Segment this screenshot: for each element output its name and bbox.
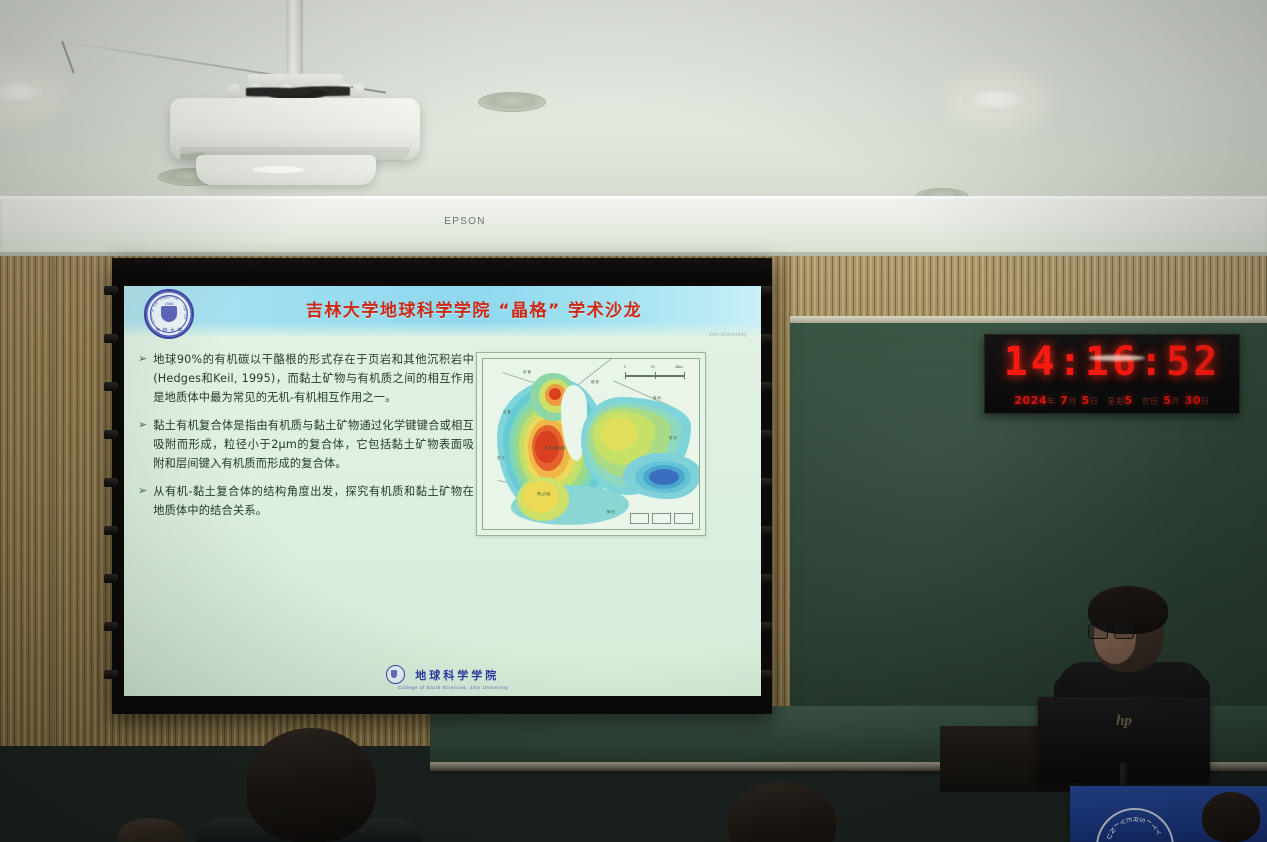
footer-college-cn: 地球科学学院 xyxy=(415,667,499,683)
clock-weekday-label: 星期 xyxy=(1107,397,1124,406)
map-scale-40: 40km xyxy=(675,365,683,369)
clock-lunar-label: 农历 xyxy=(1142,397,1159,406)
clock-date-display: 2024年 7月 5日 星期5 农历 5月 30日 xyxy=(985,394,1239,407)
downlight-off-top xyxy=(478,92,546,112)
clock-year-unit: 年 xyxy=(1047,397,1056,406)
projection-screen-case xyxy=(112,258,772,282)
map-scale-0: 0 xyxy=(624,365,626,369)
digital-wall-clock: 14:16:52 2024年 7月 5日 星期5 农历 5月 30日 xyxy=(984,334,1240,414)
footer-college-en: College of Earth Sciences, Jilin Univers… xyxy=(146,685,761,690)
hp-logo-icon: hp xyxy=(1116,713,1132,730)
bullet-text: 地球90%的有机碳以干酪根的形式存在于页岩和其他沉积岩中(Hedges和Keil… xyxy=(153,350,474,407)
list-item: ➢ 地球90%的有机碳以干酪根的形式存在于页岩和其他沉积岩中(Hedges和Ke… xyxy=(138,350,474,407)
projector-body: EPSON xyxy=(170,98,420,160)
screen-hooks-left xyxy=(104,286,118,706)
chalkboard-trim-right xyxy=(790,316,1267,323)
seal-cn-text: 吉 林 大 学 xyxy=(154,327,184,334)
clock-day-unit: 日 xyxy=(1090,397,1099,406)
projected-slide: JILIN UNIVERSITY · CHINA 1946 吉 林 大 学 吉林… xyxy=(124,286,761,696)
clock-year: 2024 xyxy=(1014,394,1047,407)
map-scale-20: 20 xyxy=(651,365,655,369)
audience-head-far-left xyxy=(118,818,184,842)
clock-day: 5 xyxy=(1082,394,1090,407)
list-item: ➢ 黏土有机复合体是指由有机质与黏土矿物通过化学键键合或相互吸附而形成，粒径小于… xyxy=(138,416,474,473)
map-scale-bar: 0 20 40km xyxy=(625,375,685,377)
clock-glare xyxy=(1089,355,1145,361)
clock-time-display: 14:16:52 xyxy=(985,339,1239,385)
projector-mount-pole xyxy=(286,0,303,78)
map-plot-area: 伊 通 长 春 四 平 德 惠 榆 树 蛟 河 梅 河 松辽盆地南部 青山口组 … xyxy=(482,358,700,530)
projector-brand-label: EPSON xyxy=(420,216,510,227)
bullet-text: 黏土有机复合体是指由有机质与黏土矿物通过化学键键合或相互吸附而形成，粒径小于2μ… xyxy=(153,416,474,473)
slide-watermark: Jilin University xyxy=(709,332,747,338)
downlight-on-right xyxy=(962,88,1032,112)
clock-lunar-month: 5 xyxy=(1163,394,1171,407)
clock-month: 7 xyxy=(1060,394,1068,407)
bullet-text: 从有机-黏土复合体的结构角度出发，探究有机质和黏土矿物在地质体中的结合关系。 xyxy=(153,482,474,520)
clock-lunar-month-unit: 月 xyxy=(1172,397,1181,406)
slide-bullet-list: ➢ 地球90%的有机碳以干酪根的形式存在于页岩和其他沉积岩中(Hedges和Ke… xyxy=(138,350,474,529)
ceiling-seam-line-short xyxy=(61,41,75,74)
map-legend-study-area xyxy=(661,529,677,530)
bullet-marker-icon: ➢ xyxy=(138,482,147,520)
downlight-on-left xyxy=(0,82,48,104)
soffit-edge xyxy=(0,196,1267,199)
slide-title: 吉林大学地球科学学院 “晶格” 学术沙龙 xyxy=(244,296,704,321)
clock-lunar-day: 30 xyxy=(1185,394,1202,407)
bullet-marker-icon: ➢ xyxy=(138,350,147,407)
lecture-hall-photo: EPSON JILIN UNIVERSITY · CHINA 1946 吉 林 … xyxy=(0,0,1267,842)
audience-head-far-right xyxy=(1202,792,1260,842)
audience-head-front xyxy=(246,728,376,842)
ceiling: EPSON xyxy=(0,0,1267,262)
slide-footer: 地球科学学院 College of Earth Sciences, Jilin … xyxy=(124,665,761,690)
wood-panel-seam xyxy=(52,256,56,746)
clock-month-unit: 月 xyxy=(1069,397,1078,406)
clock-weekday-value: 5 xyxy=(1125,394,1133,407)
presenter-glasses-icon xyxy=(1088,624,1134,637)
jilin-university-seal-icon: JILIN UNIVERSITY · CHINA 1946 吉 林 大 学 xyxy=(144,289,194,339)
audience-head-right xyxy=(728,782,836,842)
geology-contour-map-figure: 伊 通 长 春 四 平 德 惠 榆 树 蛟 河 梅 河 松辽盆地南部 青山口组 … xyxy=(476,352,706,536)
map-legend xyxy=(630,513,693,524)
clock-lunar-day-unit: 日 xyxy=(1201,397,1210,406)
hp-monitor: hp xyxy=(1038,697,1210,783)
footer-seal-icon xyxy=(386,665,405,684)
podium-university-seal-icon: UNIVERSITY xyxy=(1096,808,1174,842)
list-item: ➢ 从有机-黏土复合体的结构角度出发，探究有机质和黏土矿物在地质体中的结合关系。 xyxy=(138,482,474,520)
bullet-marker-icon: ➢ xyxy=(138,416,147,473)
projector-lens xyxy=(196,155,376,185)
